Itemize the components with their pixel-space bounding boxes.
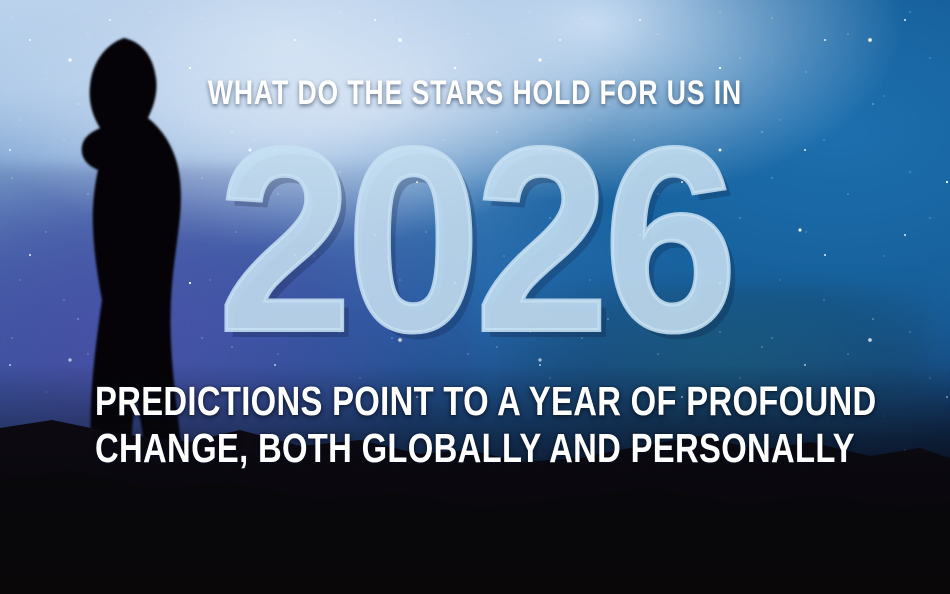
banner-subtitle-line-2: CHANGE, BOTH GLOBALLY AND PERSONALLY xyxy=(95,428,855,469)
banner-subtitle-line-1: PREDICTIONS POINT TO A YEAR OF PROFOUND xyxy=(95,381,855,422)
starry-night-banner: WHAT DO THE STARS HOLD FOR US IN 2026 PR… xyxy=(0,0,950,594)
banner-year: 2026 xyxy=(38,138,912,342)
banner-text-content: WHAT DO THE STARS HOLD FOR US IN 2026 PR… xyxy=(0,0,950,594)
